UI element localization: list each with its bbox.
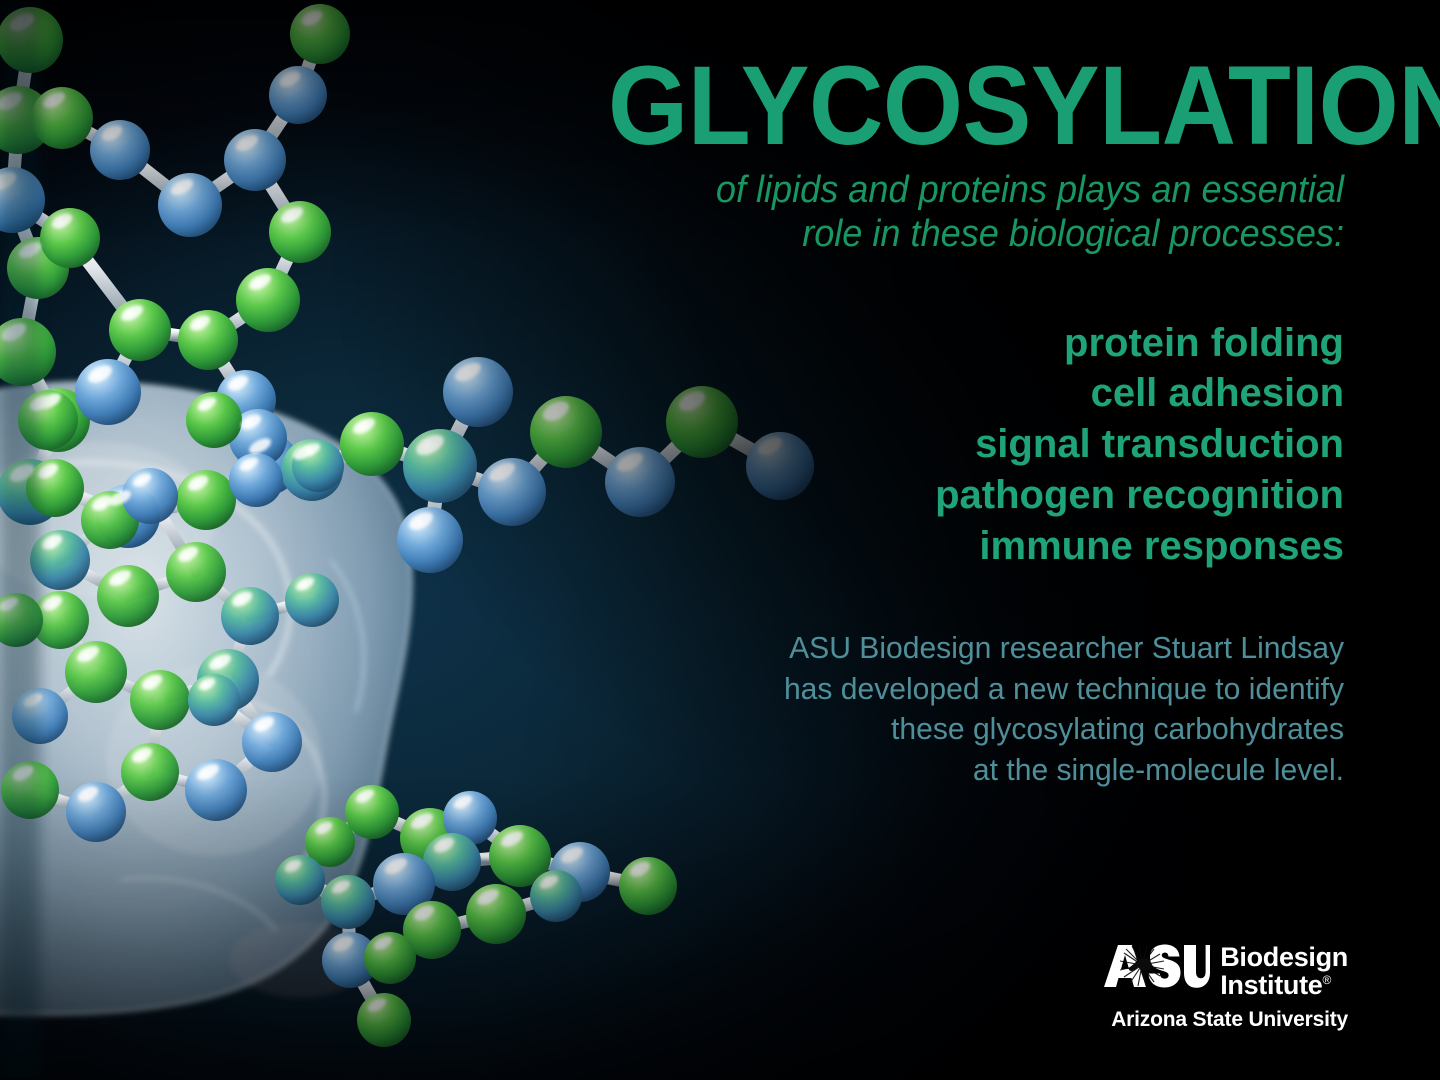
asu-biodesign-institute-logo: ® Biodesign Institute® Arizona State Uni… bbox=[1102, 943, 1348, 1032]
list-item: signal transduction bbox=[544, 419, 1344, 470]
logo-top-row: ® Biodesign Institute® bbox=[1102, 943, 1348, 999]
subtitle-line-1: of lipids and proteins plays an essentia… bbox=[716, 169, 1344, 211]
blurb-line-3: these glycosylating carbohydrates bbox=[891, 711, 1344, 746]
registered-icon: ® bbox=[1322, 973, 1331, 987]
list-item: cell adhesion bbox=[544, 368, 1344, 419]
list-item: immune responses bbox=[544, 521, 1344, 572]
subtitle-line-2: role in these biological processes: bbox=[802, 213, 1344, 255]
research-blurb: ASU Biodesign researcher Stuart Lindsay … bbox=[568, 628, 1344, 792]
text-block: GLYCOSYLATION of lipids and proteins pla… bbox=[544, 52, 1344, 791]
blurb-line-2: has developed a new technique to identif… bbox=[784, 671, 1344, 706]
logo-name-line-1: Biodesign bbox=[1220, 943, 1348, 971]
logo-university-name: Arizona State University bbox=[1111, 1008, 1348, 1032]
registered-mark: ® bbox=[1206, 947, 1210, 955]
logo-name-line-2: Institute® bbox=[1220, 971, 1348, 999]
blurb-line-4: at the single-molecule level. bbox=[973, 752, 1344, 787]
list-item: protein folding bbox=[544, 318, 1344, 369]
biological-process-list: protein folding cell adhesion signal tra… bbox=[544, 318, 1344, 572]
page-title: GLYCOSYLATION bbox=[608, 52, 1344, 160]
subtitle: of lipids and proteins plays an essentia… bbox=[584, 168, 1344, 256]
logo-wordmark: Biodesign Institute® bbox=[1220, 943, 1348, 999]
blurb-line-1: ASU Biodesign researcher Stuart Lindsay bbox=[789, 630, 1344, 665]
asu-pitchfork-sunburst-icon: ® bbox=[1102, 943, 1210, 989]
list-item: pathogen recognition bbox=[544, 470, 1344, 521]
glycosylation-poster: GLYCOSYLATION of lipids and proteins pla… bbox=[0, 0, 1440, 1080]
